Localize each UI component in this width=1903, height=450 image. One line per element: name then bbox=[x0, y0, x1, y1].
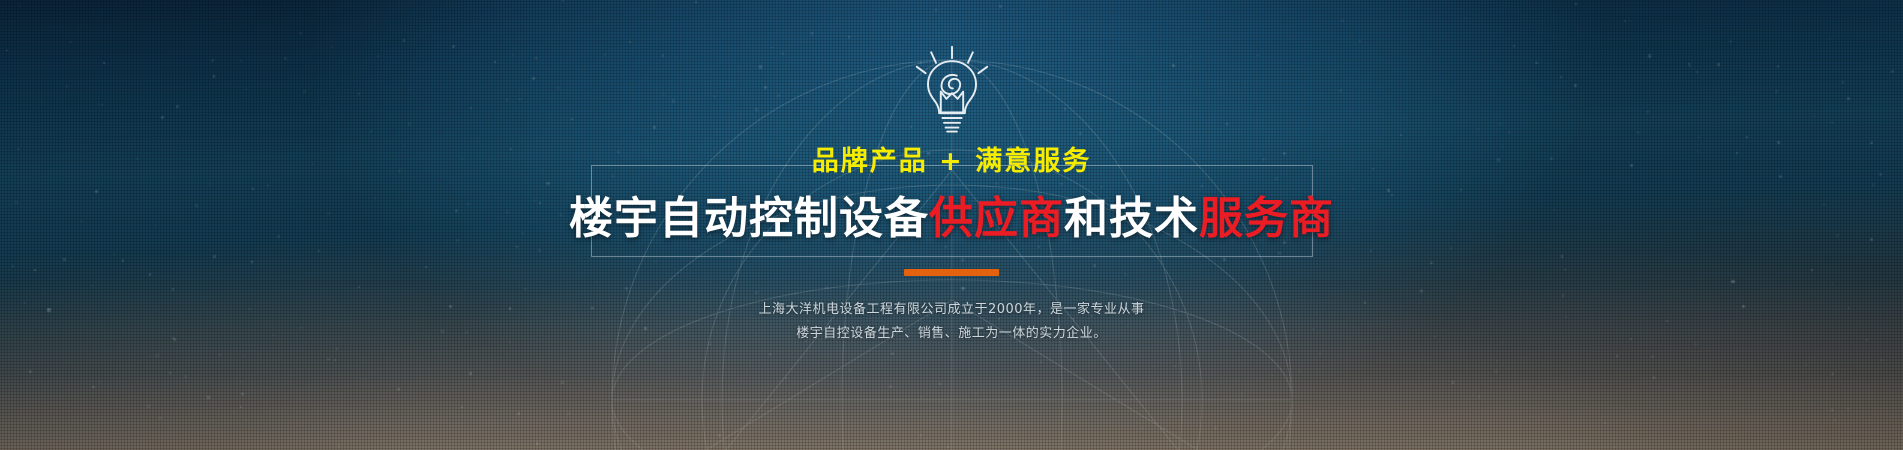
headline-part-3: 和技术 bbox=[1064, 193, 1199, 244]
banner-content: 品牌产品 + 满意服务 楼宇自动控制设备供应商和技术服务商 上海大洋机电设备工程… bbox=[0, 0, 1903, 450]
headline-part-4-highlight: 服务商 bbox=[1199, 193, 1334, 244]
headline-frame: 品牌产品 + 满意服务 楼宇自动控制设备供应商和技术服务商 bbox=[591, 148, 1313, 243]
headline-part-2-highlight: 供应商 bbox=[929, 193, 1064, 244]
headline-part-1: 楼宇自动控制设备 bbox=[569, 193, 929, 244]
banner-headline: 楼宇自动控制设备供应商和技术服务商 bbox=[569, 195, 1334, 243]
orange-divider bbox=[904, 269, 999, 276]
lightbulb-idea-icon bbox=[904, 42, 1000, 138]
hero-banner: 品牌产品 + 满意服务 楼宇自动控制设备供应商和技术服务商 上海大洋机电设备工程… bbox=[0, 0, 1903, 450]
banner-kicker: 品牌产品 + 满意服务 bbox=[796, 148, 1107, 175]
description-line-2: 楼宇自控设备生产、销售、施工为一体的实力企业。 bbox=[758, 322, 1144, 346]
description-line-1: 上海大洋机电设备工程有限公司成立于2000年，是一家专业从事 bbox=[758, 298, 1144, 322]
banner-description: 上海大洋机电设备工程有限公司成立于2000年，是一家专业从事 楼宇自控设备生产、… bbox=[758, 298, 1144, 346]
